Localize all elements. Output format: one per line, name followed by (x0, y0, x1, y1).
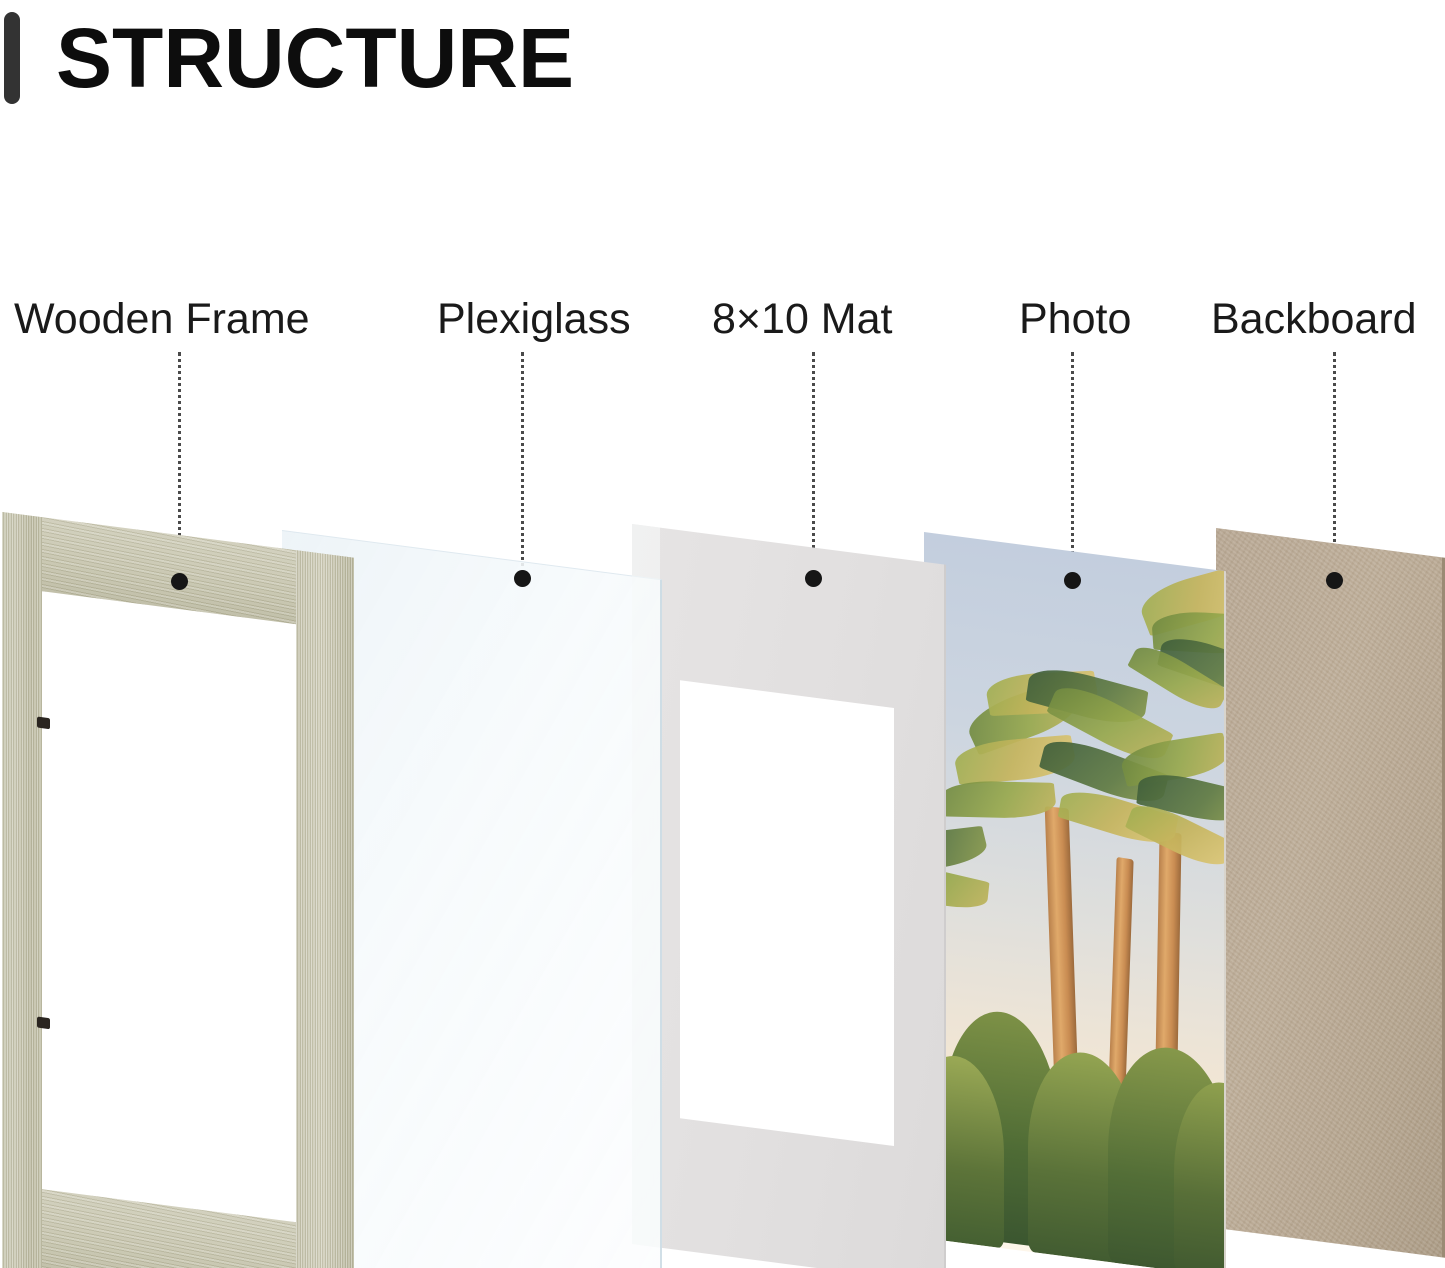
frame-opening (42, 591, 296, 1222)
frame-hardware-tab (37, 1017, 50, 1030)
leader-dot-mat (805, 570, 822, 587)
page-title: STRUCTURE (0, 8, 574, 108)
mat-window-opening (680, 680, 894, 1146)
infographic-canvas: STRUCTURE Wooden Frame Plexiglass 8×10 M… (0, 0, 1445, 1268)
leader-dot-wooden-frame (171, 573, 188, 590)
layer-backboard (1216, 528, 1445, 1258)
frame-hardware-tab (37, 717, 50, 730)
layer-photo (924, 532, 1226, 1268)
label-photo: Photo (1019, 294, 1131, 344)
layer-wooden-frame (2, 512, 354, 1268)
plexiglass-mat-overlap (632, 524, 660, 1248)
title-accent-bar (4, 12, 20, 104)
leader-line-plexiglass (521, 352, 524, 574)
layer-mat (632, 524, 946, 1268)
leader-dot-photo (1064, 572, 1081, 589)
leader-line-backboard (1333, 352, 1336, 574)
leader-line-photo (1071, 352, 1074, 574)
frame-rail-left (2, 512, 42, 1268)
label-mat: 8×10 Mat (712, 294, 892, 344)
palm-frond (938, 780, 1057, 819)
leader-dot-plexiglass (514, 570, 531, 587)
leader-line-mat (812, 352, 815, 574)
label-backboard: Backboard (1211, 294, 1417, 344)
frame-rail-right (296, 550, 354, 1268)
label-plexiglass: Plexiglass (437, 294, 631, 344)
leader-dot-backboard (1326, 572, 1343, 589)
page-title-text: STRUCTURE (56, 12, 574, 104)
label-wooden-frame: Wooden Frame (14, 294, 310, 344)
